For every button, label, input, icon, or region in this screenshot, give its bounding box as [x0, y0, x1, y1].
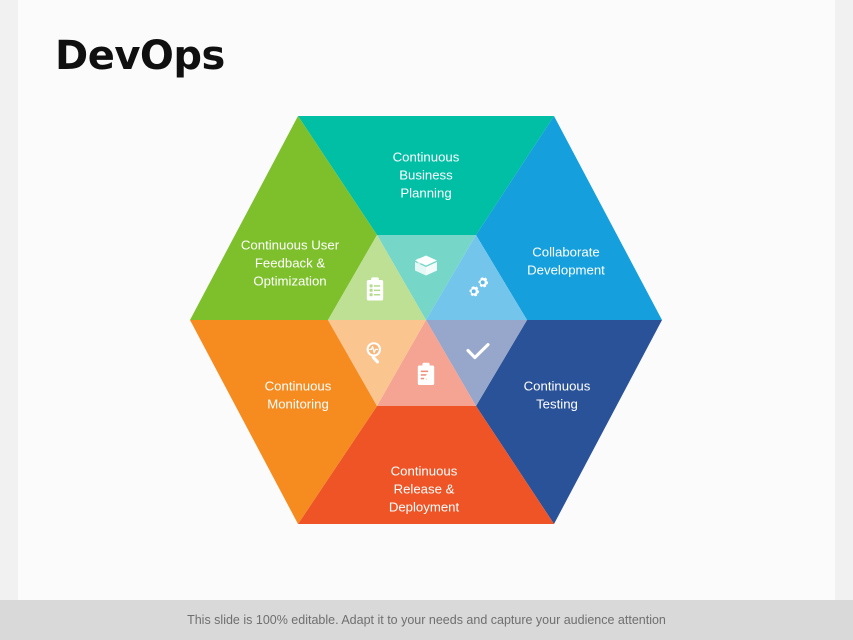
label-line: Testing — [536, 396, 578, 411]
footer-text: This slide is 100% editable. Adapt it to… — [187, 613, 666, 627]
segment-label-release-deployment: Continuous Release & Deployment — [389, 463, 460, 514]
label-line: Collaborate — [532, 244, 599, 259]
label-line: Continuous — [265, 378, 332, 393]
label-line: Continuous — [393, 149, 460, 164]
label-line: Monitoring — [267, 396, 329, 411]
label-line: Continuous — [391, 463, 458, 478]
label-line: Development — [527, 262, 605, 277]
label-line: Business — [399, 167, 453, 182]
label-line: Continuous — [524, 378, 591, 393]
clipboard-checklist-icon — [367, 277, 383, 300]
edit-document-icon — [418, 363, 434, 385]
label-line: Deployment — [389, 499, 460, 514]
label-line: Continuous User — [241, 237, 340, 252]
label-line: Release & — [394, 481, 455, 496]
devops-hexagon-diagram: Continuous Business Planning Collaborate… — [0, 0, 853, 640]
footer-bar: This slide is 100% editable. Adapt it to… — [0, 600, 853, 640]
segment-label-business-planning: Continuous Business Planning — [393, 149, 460, 200]
label-line: Optimization — [253, 273, 326, 288]
label-line: Feedback & — [255, 255, 326, 270]
segment-label-user-feedback-optimization: Continuous User Feedback & Optimization — [241, 237, 340, 288]
label-line: Planning — [400, 185, 451, 200]
